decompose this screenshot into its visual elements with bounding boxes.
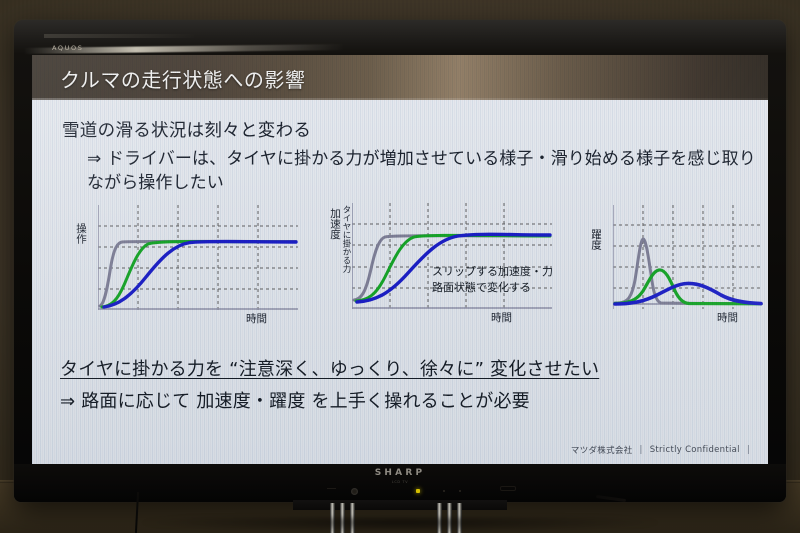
slip-annotation-line1: スリップする加速度・力 bbox=[432, 265, 553, 279]
chart-operation-ylabel: 操作 bbox=[74, 223, 89, 244]
slide-title: クルマの走行状態への影響 bbox=[60, 64, 305, 93]
chart-acceleration: 加速度 タイヤに掛かる力 スリップする加速度・力 路面状態で変化する 時間 bbox=[352, 203, 552, 309]
bezel-marking bbox=[327, 488, 336, 490]
bezel-dot-left bbox=[443, 490, 445, 492]
chart-operation-plot bbox=[98, 205, 298, 310]
chart-jerk: 躍度 時間 bbox=[613, 205, 763, 309]
sharp-sublabel: LCD TV bbox=[392, 480, 409, 484]
chart-operation-xlabel: 時間 bbox=[246, 311, 267, 326]
slide-footer: マツダ株式会社 | Strictly Confidential | bbox=[571, 444, 750, 456]
presentation-slide: クルマの走行状態への影響 雪道の滑る状況は刻々と変わる ⇒ ドライバーは、タイヤ… bbox=[32, 55, 768, 464]
chart-acceleration-xlabel: 時間 bbox=[491, 310, 512, 325]
bezel-port-marking bbox=[500, 486, 516, 491]
slide-sub-line: ⇒ ドライバーは、タイヤに掛かる力が増加させている様子・滑り始める様子を感じ取り… bbox=[87, 147, 767, 195]
bezel-gloss bbox=[14, 20, 786, 60]
curve-green bbox=[102, 242, 296, 308]
chart-jerk-xlabel: 時間 bbox=[717, 310, 738, 325]
curve-gray-peak bbox=[615, 239, 761, 304]
chart-operation: 操作 時間 bbox=[98, 205, 298, 310]
ir-sensor-icon bbox=[351, 488, 358, 495]
sharp-logo: SHARP bbox=[375, 468, 426, 478]
chart-acceleration-ylabel2: タイヤに掛かる力 bbox=[340, 205, 352, 273]
bottom-bezel: SHARP LCD TV bbox=[14, 464, 786, 502]
television: AQUOS クルマの走行状態への影響 雪道の滑る状況は刻々と変わる ⇒ ドライバ… bbox=[14, 20, 786, 502]
aquos-logo: AQUOS bbox=[52, 44, 83, 52]
tv-screen: クルマの走行状態への影響 雪道の滑る状況は刻々と変わる ⇒ ドライバーは、タイヤ… bbox=[32, 55, 768, 464]
slide-conclusion-line2: ⇒ 路面に応じて 加速度・躍度 を上手く操れることが必要 bbox=[60, 387, 530, 413]
photo-scene: AQUOS クルマの走行状態への影響 雪道の滑る状況は刻々と変わる ⇒ ドライバ… bbox=[0, 0, 800, 533]
bezel-dot-right bbox=[459, 490, 461, 492]
curve-blue bbox=[104, 241, 296, 307]
slide-lead-line: 雪道の滑る状況は刻々と変わる bbox=[62, 117, 311, 142]
gridlines bbox=[613, 205, 763, 309]
power-led-icon[interactable] bbox=[416, 489, 420, 493]
stand-neck bbox=[293, 500, 507, 510]
slip-annotation-line2: 路面状態で変化する bbox=[432, 281, 531, 295]
footer-classification: Strictly Confidential bbox=[650, 445, 740, 455]
footer-company: マツダ株式会社 bbox=[571, 444, 633, 456]
bezel-top-strip bbox=[44, 34, 194, 38]
footer-separator-1: | bbox=[640, 445, 643, 455]
curve-blue-peak bbox=[615, 283, 761, 304]
chart-jerk-plot bbox=[613, 205, 763, 309]
tv-shadow bbox=[110, 517, 690, 531]
slide-conclusion-line1: タイヤに掛かる力を “注意深く、ゆっくり、徐々に” 変化させたい bbox=[60, 355, 599, 381]
footer-separator-2: | bbox=[747, 445, 750, 455]
chart-jerk-ylabel: 躍度 bbox=[589, 229, 604, 250]
